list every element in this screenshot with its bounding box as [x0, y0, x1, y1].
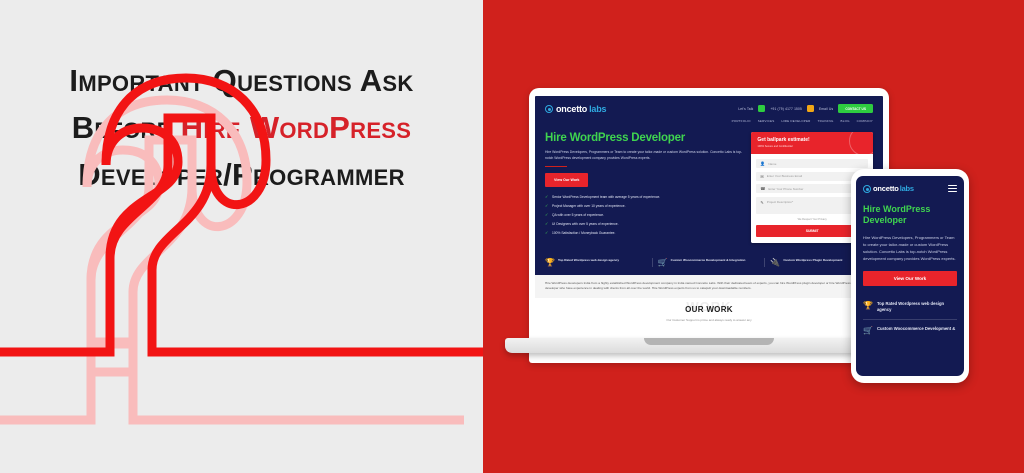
list-item: ✓UI Designers with over 5 years of exper… — [545, 222, 743, 226]
estimate-form-header: Get ballpark estimate! 100% Secure and C… — [751, 132, 873, 154]
seo-section: Hire WordPress developers India from a h… — [535, 275, 883, 298]
check-icon: ✓ — [545, 213, 549, 217]
cart-icon: 🛒 — [658, 258, 668, 267]
trophy-icon: 🏆 — [863, 301, 873, 313]
phone-icon — [758, 105, 765, 112]
phone-field-placeholder: Enter Your Phone Number — [768, 187, 803, 191]
check-icon: ✓ — [545, 231, 549, 235]
our-work-title: OUR WORK — [535, 305, 883, 314]
phone-view-our-work-button[interactable]: View Our Work — [863, 271, 957, 286]
phone-hero-paragraph: Hire WordPress Developers, Programmers o… — [863, 234, 957, 262]
cart-icon: 🛒 — [863, 326, 873, 335]
check-icon: ✓ — [545, 204, 549, 208]
bullet-text: 100% Satisfaction / Moneyback Guarantee. — [552, 231, 615, 235]
feature-card: 🛒Custom Woocommerce Development & Integr… — [652, 258, 761, 267]
hero-bullet-list: ✓Senior WordPress Development team with … — [545, 195, 743, 235]
phone-topbar: oncettolabs — [863, 184, 957, 193]
phone-logo[interactable]: oncettolabs — [863, 184, 914, 193]
hamburger-icon[interactable] — [948, 185, 957, 192]
logo-text-primary: oncetto — [556, 104, 587, 114]
phone-hero-title: Hire WordPress Developer — [863, 204, 957, 226]
hero-left: Hire WordPress Developer Hire WordPress … — [545, 132, 743, 243]
phone-logo-primary: oncetto — [873, 184, 899, 193]
mail-icon: ✉ — [760, 174, 763, 179]
hero-divider — [545, 166, 567, 167]
view-our-work-button[interactable]: View Our Work — [545, 173, 588, 187]
site-topbar: oncettolabs Let's Talk +91 (79) 4177 150… — [545, 101, 873, 116]
feature-cards: 🏆Top Rated Wordpress web design agency 🛒… — [545, 252, 873, 267]
top-link-phone[interactable]: +91 (79) 4177 1505 — [770, 107, 802, 111]
phone-feature-title: Top Rated Wordpress web design agency — [877, 301, 957, 313]
question-mark-icon — [0, 0, 483, 473]
check-icon: ✓ — [545, 195, 549, 199]
feature-card: 🏆Top Rated Wordpress web design agency — [545, 258, 648, 267]
nav-item-hire-developer[interactable]: HIRE DEVELOPER — [781, 119, 810, 123]
laptop-screen: oncettolabs Let's Talk +91 (79) 4177 150… — [535, 96, 883, 357]
top-link-lets-talk[interactable]: Let's Talk — [738, 107, 753, 111]
logo-at-icon — [863, 185, 871, 193]
logo-at-icon — [545, 105, 553, 113]
email-field-placeholder: Enter Your Business Email — [767, 174, 802, 178]
hero-row: Hire WordPress Developer Hire WordPress … — [545, 132, 873, 243]
nav-item-blog[interactable]: BLOG — [841, 119, 850, 123]
bullet-text: QA with over 5 years of experience. — [552, 213, 604, 217]
nav-item-portfolio[interactable]: PORTFOLIO — [732, 119, 751, 123]
list-item: ✓Senior WordPress Development team with … — [545, 195, 743, 199]
name-field[interactable]: 👤Name — [756, 159, 868, 168]
laptop-bezel: oncettolabs Let's Talk +91 (79) 4177 150… — [529, 88, 889, 363]
user-icon: 👤 — [760, 161, 765, 166]
nav-item-services[interactable]: SERVICES — [758, 119, 775, 123]
top-link-email[interactable]: Email Us — [819, 107, 833, 111]
list-item: 🏆Top Rated Wordpress web design agency — [863, 295, 957, 319]
our-work-subtitle: Our Customer Support is prime and always… — [535, 318, 883, 322]
hero-title: Hire WordPress Developer — [545, 132, 743, 144]
site-top-links: Let's Talk +91 (79) 4177 1505 Email Us C… — [738, 104, 873, 113]
banner-stage: Important Questions Ask Before Hire Word… — [0, 0, 1024, 473]
list-item: 🛒Custom Woocommerce Development & — [863, 319, 957, 341]
plug-icon: 🔌 — [770, 258, 780, 267]
nav-item-company[interactable]: COMPANY — [857, 119, 873, 123]
left-panel: Important Questions Ask Before Hire Word… — [0, 0, 483, 473]
hero-paragraph: Hire WordPress Developers, Programmers o… — [545, 149, 743, 161]
bullet-text: Senior WordPress Development team with a… — [552, 195, 660, 199]
decorative-circle — [849, 132, 873, 154]
feature-card-title: Custom Wordpress Plugin Development — [783, 258, 842, 267]
phone-feature-list: 🏆Top Rated Wordpress web design agency 🛒… — [863, 295, 957, 341]
feature-card-title: Top Rated Wordpress web design agency — [558, 258, 619, 267]
mail-icon — [807, 105, 814, 112]
our-work-section: WORK OUR WORK Our Customer Support is pr… — [535, 298, 883, 330]
seo-paragraph: Hire WordPress developers India from a h… — [545, 281, 873, 291]
project-description-placeholder: Project Description* — [767, 200, 793, 204]
logo-text-secondary: labs — [589, 104, 606, 114]
phone-icon: ☎ — [760, 186, 765, 191]
note-icon: ✎ — [760, 200, 763, 205]
bullet-text: Project Manager with over 10 years of ex… — [552, 204, 626, 208]
feature-card-title: Custom Woocommerce Development & Integra… — [671, 258, 746, 267]
trophy-icon: 🏆 — [545, 258, 555, 267]
phone-feature-title: Custom Woocommerce Development & — [877, 326, 955, 335]
site-logo[interactable]: oncettolabs — [545, 104, 606, 114]
contact-us-button[interactable]: CONTACT US — [838, 104, 873, 113]
name-field-placeholder: Name — [768, 162, 776, 166]
phone-logo-secondary: labs — [900, 184, 914, 193]
phone-screen: oncettolabs Hire WordPress Developer Hir… — [856, 176, 964, 376]
right-panel: oncettolabs Let's Talk +91 (79) 4177 150… — [483, 0, 1024, 473]
nav-item-training[interactable]: TRAINING — [818, 119, 834, 123]
site-hero-section: oncettolabs Let's Talk +91 (79) 4177 150… — [535, 96, 883, 275]
phone-mockup: oncettolabs Hire WordPress Developer Hir… — [851, 169, 969, 383]
list-item: ✓Project Manager with over 10 years of e… — [545, 204, 743, 208]
list-item: ✓100% Satisfaction / Moneyback Guarantee… — [545, 231, 743, 235]
laptop-trackpad-notch — [644, 338, 774, 345]
site-nav: PORTFOLIO SERVICES HIRE DEVELOPER TRAINI… — [545, 119, 873, 123]
bullet-text: UI Designers with over 5 years of experi… — [552, 222, 619, 226]
check-icon: ✓ — [545, 222, 549, 226]
question-mark-graphic — [0, 0, 483, 473]
list-item: ✓QA with over 5 years of experience. — [545, 213, 743, 217]
